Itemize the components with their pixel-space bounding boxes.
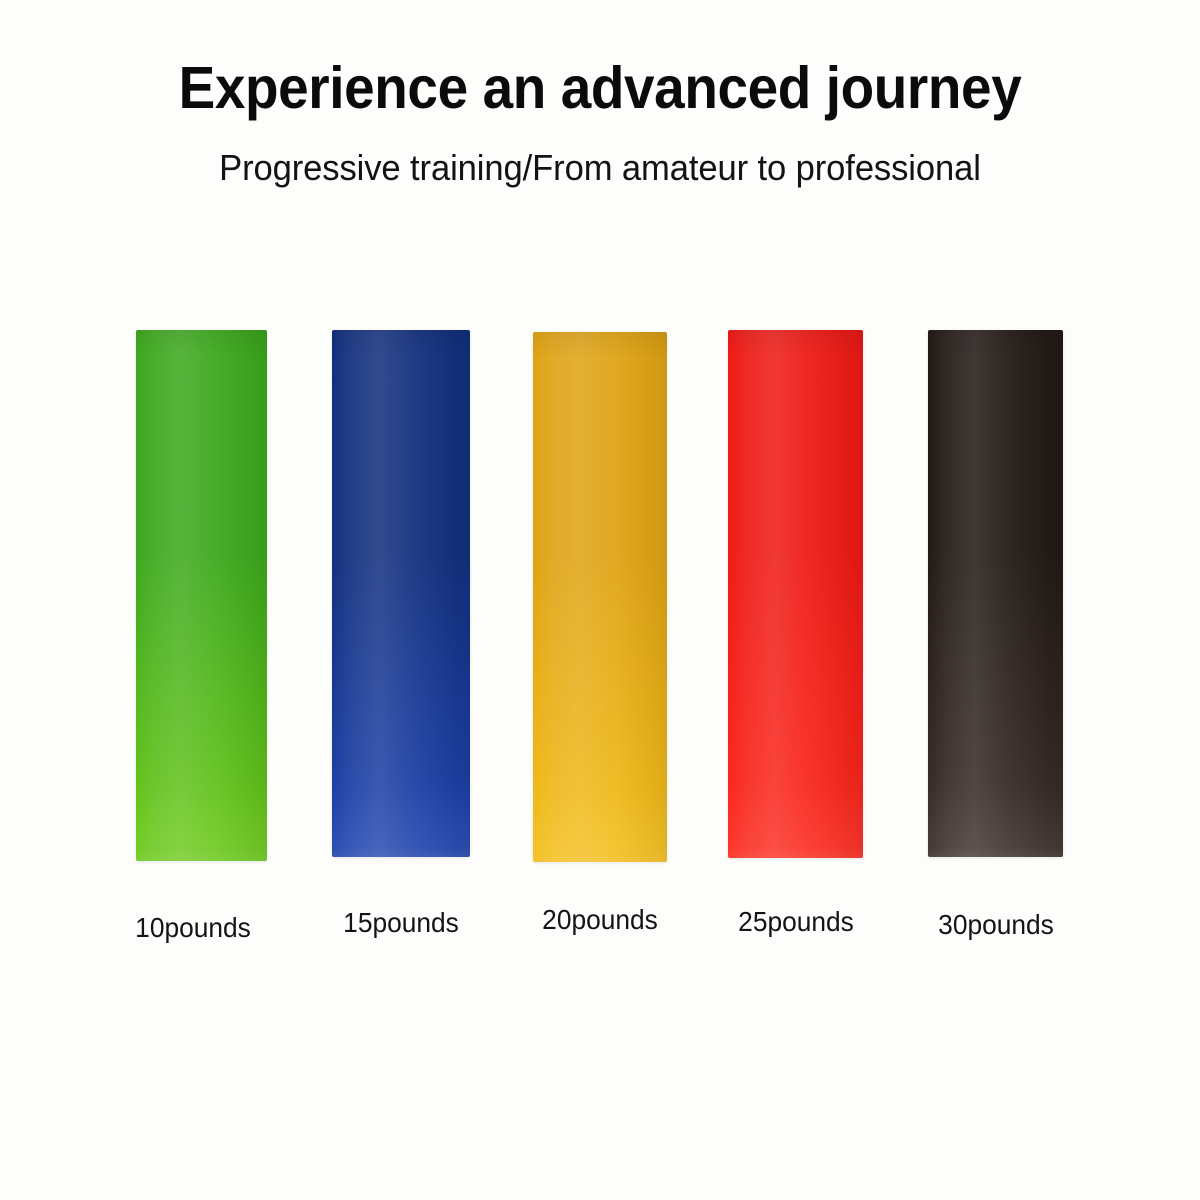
resistance-band-black[interactable] — [928, 330, 1063, 857]
band-label-blue: 15pounds — [298, 907, 505, 939]
resistance-band-blue[interactable] — [332, 330, 470, 857]
band-swatch-yellow — [533, 332, 667, 862]
product-promo-card: Experience an advanced journey Progressi… — [0, 0, 1200, 1200]
band-label-green: 10pounds — [90, 912, 297, 944]
resistance-band-green[interactable] — [136, 330, 267, 861]
resistance-band-row: 10pounds15pounds20pounds25pounds30pounds — [0, 0, 1200, 1200]
band-label-yellow: 20pounds — [497, 904, 704, 936]
band-label-black: 30pounds — [893, 909, 1100, 941]
band-swatch-black — [928, 330, 1063, 857]
band-label-red: 25pounds — [693, 906, 900, 938]
resistance-band-yellow[interactable] — [533, 332, 667, 862]
band-swatch-blue — [332, 330, 470, 857]
resistance-band-red[interactable] — [728, 330, 863, 858]
band-swatch-green — [136, 330, 267, 861]
band-swatch-red — [728, 330, 863, 858]
